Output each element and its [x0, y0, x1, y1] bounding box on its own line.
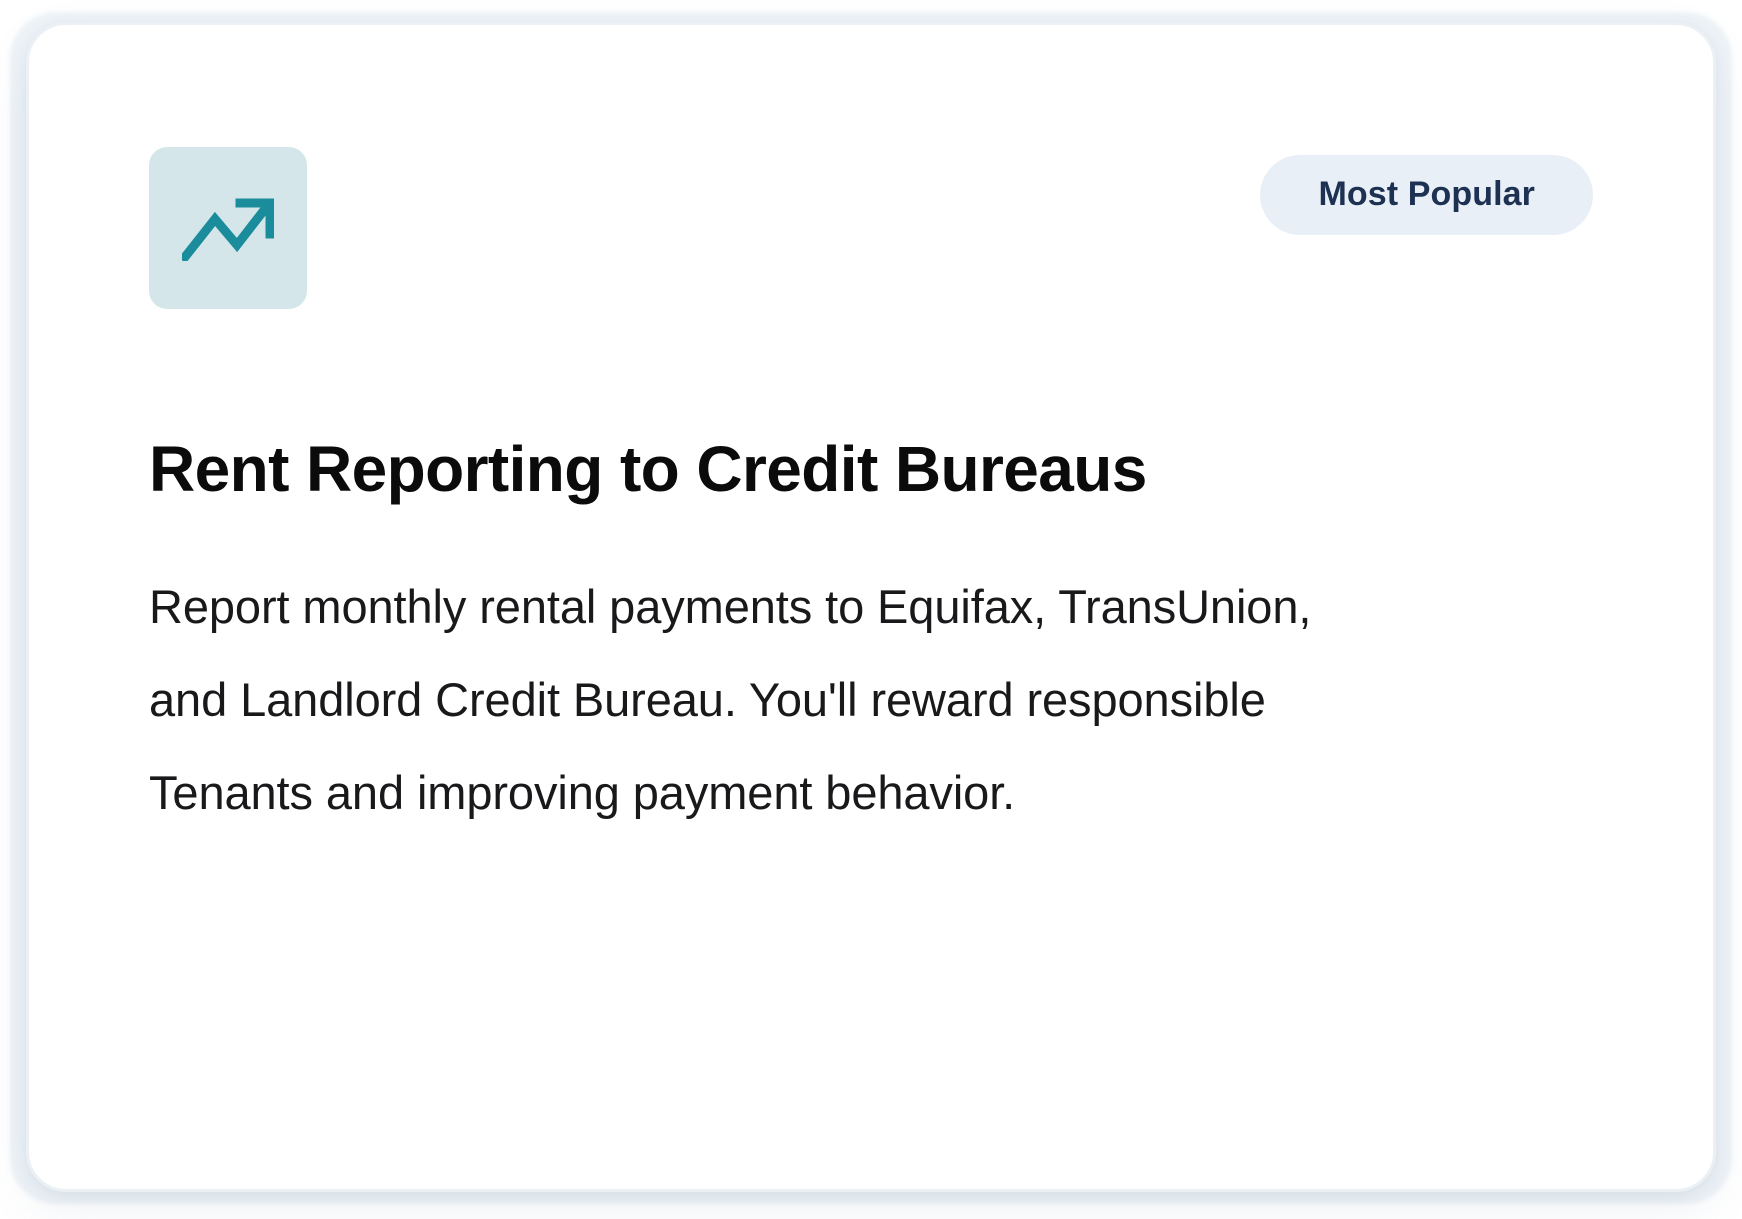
trending-up-icon [182, 195, 274, 261]
card-description: Report monthly rental payments to Equifa… [149, 560, 1359, 839]
most-popular-badge[interactable]: Most Popular [1260, 155, 1593, 235]
card-title: Rent Reporting to Credit Bureaus [149, 435, 1593, 504]
feature-card[interactable]: Most Popular Rent Reporting to Credit Bu… [26, 22, 1716, 1192]
card-header-row: Most Popular [149, 147, 1593, 323]
page-background: Most Popular Rent Reporting to Credit Bu… [0, 0, 1742, 1219]
feature-icon-tile [149, 147, 307, 309]
